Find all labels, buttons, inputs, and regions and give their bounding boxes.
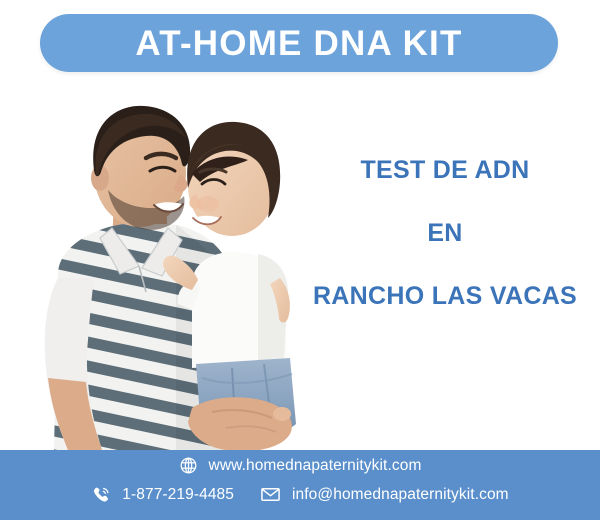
website-item[interactable]: www.homednapaternitykit.com <box>179 456 422 475</box>
headline-line-3: RANCHO LAS VACAS <box>300 284 590 309</box>
footer-bar: www.homednapaternitykit.com 1-877-219-44… <box>0 450 600 520</box>
footer-row-contact: 1-877-219-4485 info@homednapaternitykit.… <box>0 484 600 505</box>
email-label: info@homednapaternitykit.com <box>292 486 509 504</box>
globe-icon <box>179 456 198 475</box>
promo-card: AT-HOME DNA KIT <box>0 0 600 520</box>
phone-label: 1-877-219-4485 <box>122 486 234 504</box>
headline-block: TEST DE ADN EN RANCHO LAS VACAS <box>300 158 590 309</box>
headline-line-1: TEST DE ADN <box>300 158 590 183</box>
footer-row-website: www.homednapaternitykit.com <box>0 456 600 475</box>
phone-item[interactable]: 1-877-219-4485 <box>91 485 234 505</box>
email-item[interactable]: info@homednapaternitykit.com <box>260 484 509 505</box>
header-banner: AT-HOME DNA KIT <box>40 14 558 72</box>
family-photo <box>0 78 326 460</box>
envelope-icon <box>260 484 281 505</box>
website-label: www.homednapaternitykit.com <box>209 457 422 475</box>
phone-icon <box>91 485 111 505</box>
page-title: AT-HOME DNA KIT <box>135 26 462 61</box>
headline-line-2: EN <box>300 221 590 246</box>
